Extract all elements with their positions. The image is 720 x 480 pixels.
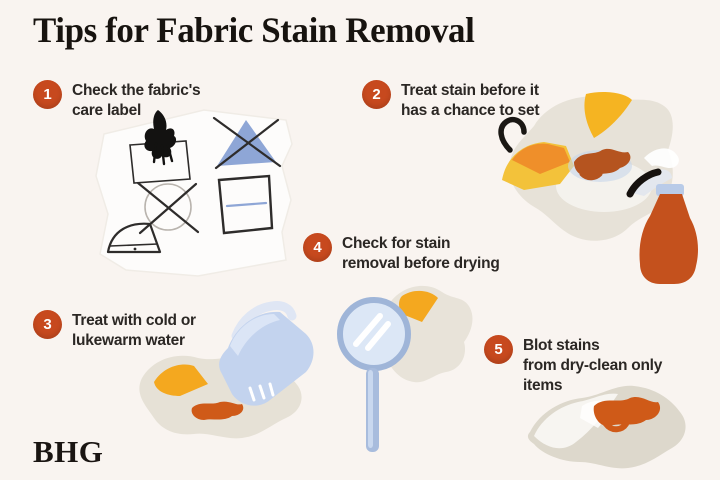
step-item-2[interactable]: 2 Treat stain before it has a chance to … [362,80,539,121]
step-item-1[interactable]: 1 Check the fabric's care label [33,80,200,121]
step-number-badge-2: 2 [362,80,391,109]
infographic-canvas: Tips for Fabric Stain Removal [0,0,720,480]
magnifying-glass-icon [340,300,408,452]
magnifying-glass-illustration [330,278,490,465]
brand-logo: BHG [33,434,103,470]
step-label-1: Check the fabric's care label [72,81,200,121]
page-title: Tips for Fabric Stain Removal [33,9,474,51]
step-number-badge-1: 1 [33,80,62,109]
step-label-5: Blot stains from dry-clean only items [523,336,662,396]
step-number-badge-4: 4 [303,233,332,262]
step-item-5[interactable]: 5 Blot stains from dry-clean only items [484,335,662,396]
step-number-badge-5: 5 [484,335,513,364]
step-item-4[interactable]: 4 Check for stain removal before drying [303,233,500,274]
step-label-4: Check for stain removal before drying [342,234,500,274]
step-label-3: Treat with cold or lukewarm water [72,311,196,351]
step-item-3[interactable]: 3 Treat with cold or lukewarm water [33,310,196,351]
step-number-badge-3: 3 [33,310,62,339]
step-label-2: Treat stain before it has a chance to se… [401,81,539,121]
care-label-illustration [86,104,301,289]
